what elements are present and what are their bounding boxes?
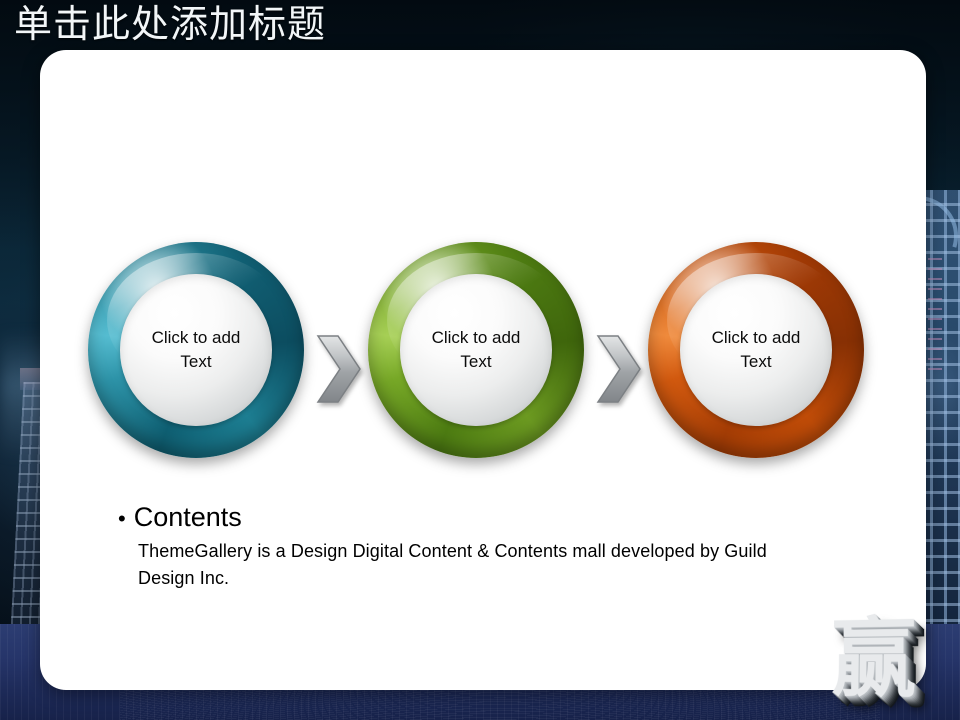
contents-heading-line: • Contents	[118, 500, 818, 535]
contents-heading: Contents	[134, 500, 242, 534]
node-1-inner-disc[interactable]: Click to add Text	[120, 274, 271, 425]
process-node-3[interactable]: Click to add Text	[648, 242, 864, 458]
node-3-label-line1: Click to add	[712, 328, 801, 347]
node-2-label-line1: Click to add	[432, 328, 521, 347]
contents-paragraph: ThemeGallery is a Design Digital Content…	[138, 538, 818, 592]
node-1-label-line2: Text	[180, 352, 211, 371]
node-1-label: Click to add Text	[132, 326, 259, 374]
decorative-glyph-win: 赢	[831, 615, 916, 703]
node-3-label-line2: Text	[740, 352, 771, 371]
right-building-accent	[928, 250, 942, 370]
process-node-1[interactable]: Click to add Text	[88, 242, 304, 458]
bullet-icon: •	[118, 503, 126, 535]
slide-canvas: 单击此处添加标题 Click to add Text	[0, 0, 960, 720]
chevron-arrow-right-icon-2	[596, 332, 642, 406]
node-3-inner-disc[interactable]: Click to add Text	[680, 274, 831, 425]
process-diagram: Click to add Text	[40, 180, 926, 480]
process-node-2[interactable]: Click to add Text	[368, 242, 584, 458]
node-2-inner-disc[interactable]: Click to add Text	[400, 274, 551, 425]
node-2-label: Click to add Text	[412, 326, 539, 374]
node-3-label: Click to add Text	[692, 326, 819, 374]
chevron-arrow-right-icon-1	[316, 332, 362, 406]
node-1-label-line1: Click to add	[152, 328, 241, 347]
node-2-label-line2: Text	[460, 352, 491, 371]
slide-title[interactable]: 单击此处添加标题	[14, 2, 326, 48]
content-text-block[interactable]: • Contents ThemeGallery is a Design Digi…	[118, 500, 818, 592]
